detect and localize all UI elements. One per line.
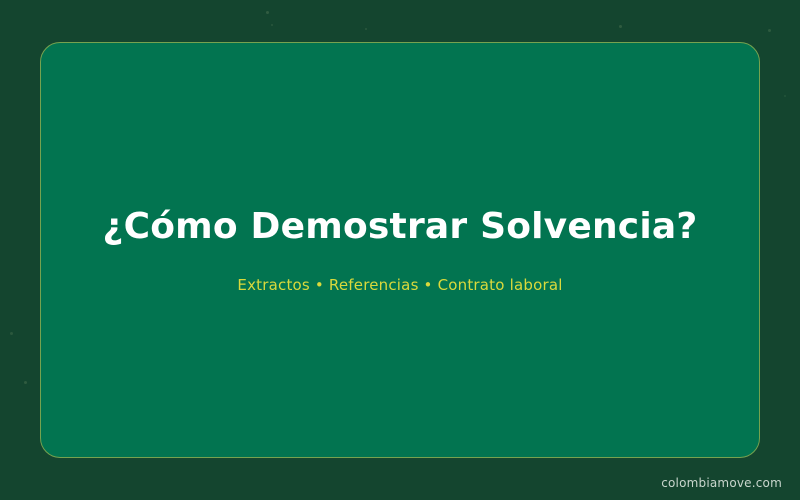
content-card: ¿Cómo Demostrar Solvencia? Extractos • R… <box>40 42 760 458</box>
decor-dot <box>768 29 771 32</box>
decor-dot <box>784 95 786 97</box>
decor-dot <box>271 24 273 26</box>
decor-dot <box>24 381 27 384</box>
decor-dot <box>266 11 269 14</box>
decor-dot <box>619 25 622 28</box>
decor-dot <box>10 332 13 335</box>
card-content: ¿Cómo Demostrar Solvencia? Extractos • R… <box>41 43 759 457</box>
page-title: ¿Cómo Demostrar Solvencia? <box>79 206 722 247</box>
subtitle-keywords: Extractos • Referencias • Contrato labor… <box>213 276 586 294</box>
slide-canvas: ¿Cómo Demostrar Solvencia? Extractos • R… <box>0 0 800 500</box>
footer-site-label: colombiamove.com <box>661 476 782 490</box>
decor-dot <box>365 28 367 30</box>
